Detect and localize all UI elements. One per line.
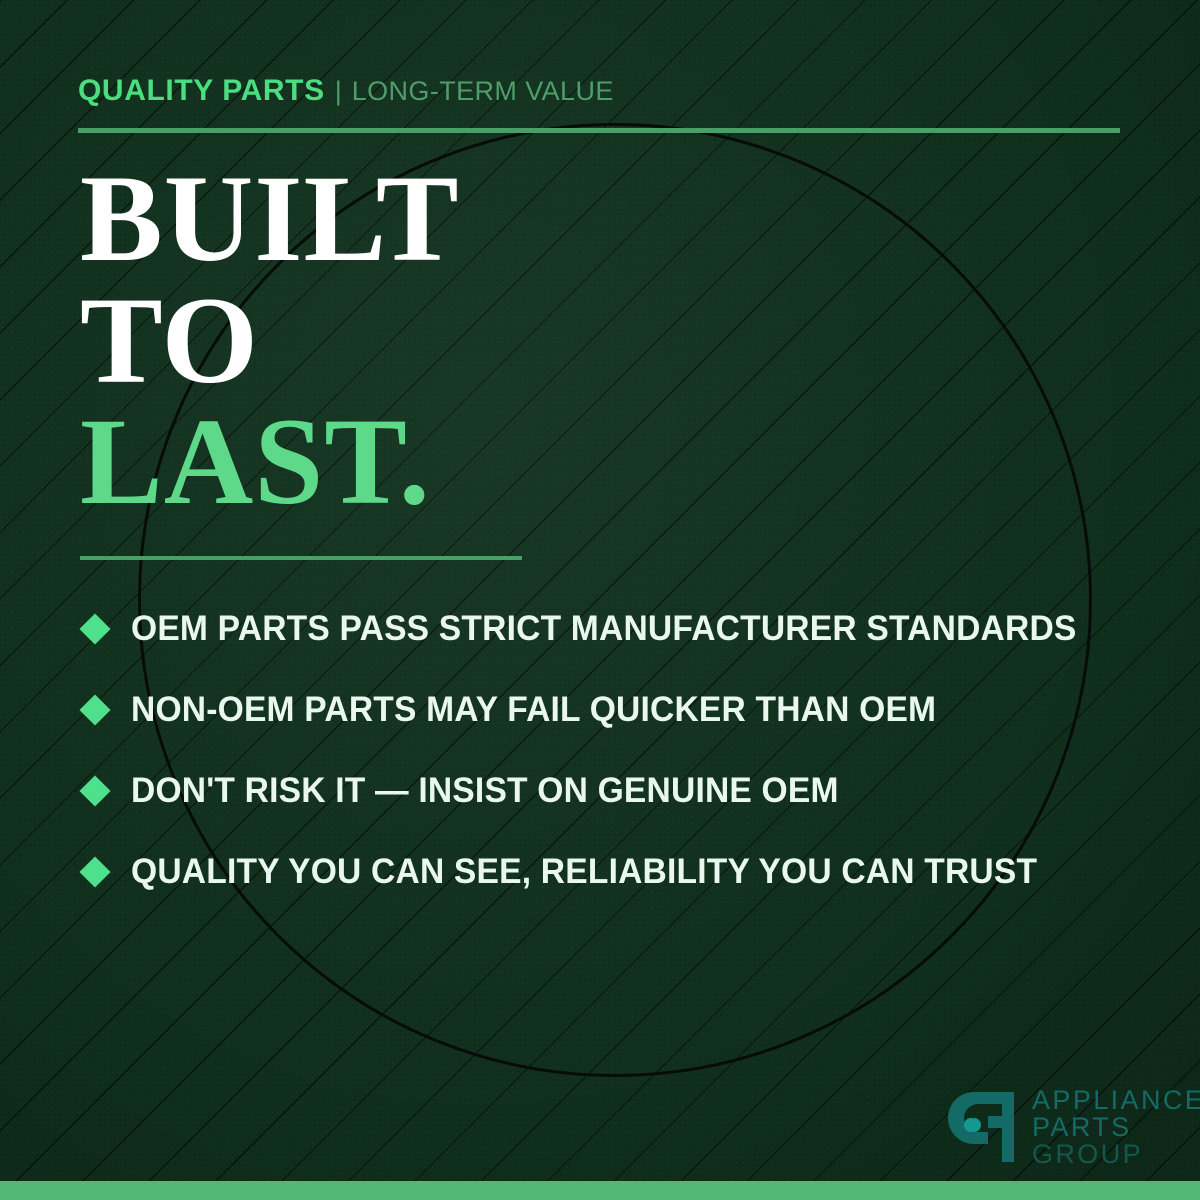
brand-logo: APPLIANCE PARTS GROUP [944,1086,1200,1168]
list-item: OEM PARTS PASS STRICT MANUFACTURER STAND… [80,588,1160,669]
headline-line-1: BUILT [80,158,460,280]
brand-logo-wordmark: APPLIANCE PARTS GROUP [1032,1087,1200,1168]
diamond-bullet-icon [79,613,110,644]
kicker-main-label: QUALITY PARTS [78,74,325,108]
poster-canvas: QUALITY PARTS | LONG-TERM VALUE BUILT TO… [0,0,1200,1200]
diamond-bullet-icon [79,775,110,806]
list-item: DON'T RISK IT — INSIST ON GENUINE OEM [80,750,1160,831]
list-item-label: NON-OEM PARTS MAY FAIL QUICKER THAN OEM [131,690,936,730]
logo-word-parts: PARTS [1032,1114,1200,1141]
list-item-label: OEM PARTS PASS STRICT MANUFACTURER STAND… [131,609,1077,649]
appliance-parts-group-g-icon [944,1086,1020,1168]
list-item-label: DON'T RISK IT — INSIST ON GENUINE OEM [131,771,839,811]
kicker: QUALITY PARTS | LONG-TERM VALUE [78,74,614,108]
page-title: BUILT TO LAST. [80,158,460,523]
diamond-bullet-icon [79,856,110,887]
kicker-sub-label: LONG-TERM VALUE [352,76,614,107]
list-item: QUALITY YOU CAN SEE, RELIABILITY YOU CAN… [80,831,1160,912]
headline-line-3: LAST. [80,401,460,523]
list-item: NON-OEM PARTS MAY FAIL QUICKER THAN OEM [80,669,1160,750]
headline-line-2: TO [80,280,460,402]
logo-word-group: GROUP [1032,1141,1200,1168]
diamond-bullet-icon [79,694,110,725]
list-item-label: QUALITY YOU CAN SEE, RELIABILITY YOU CAN… [131,852,1037,892]
headline-divider-rule [80,556,522,560]
header-divider-rule [78,128,1120,133]
benefit-list: OEM PARTS PASS STRICT MANUFACTURER STAND… [80,588,1160,912]
logo-word-appliance: APPLIANCE [1032,1087,1200,1114]
bottom-accent-bar [0,1181,1200,1200]
kicker-separator: | [335,76,342,107]
poster-content: QUALITY PARTS | LONG-TERM VALUE BUILT TO… [0,0,1200,1200]
